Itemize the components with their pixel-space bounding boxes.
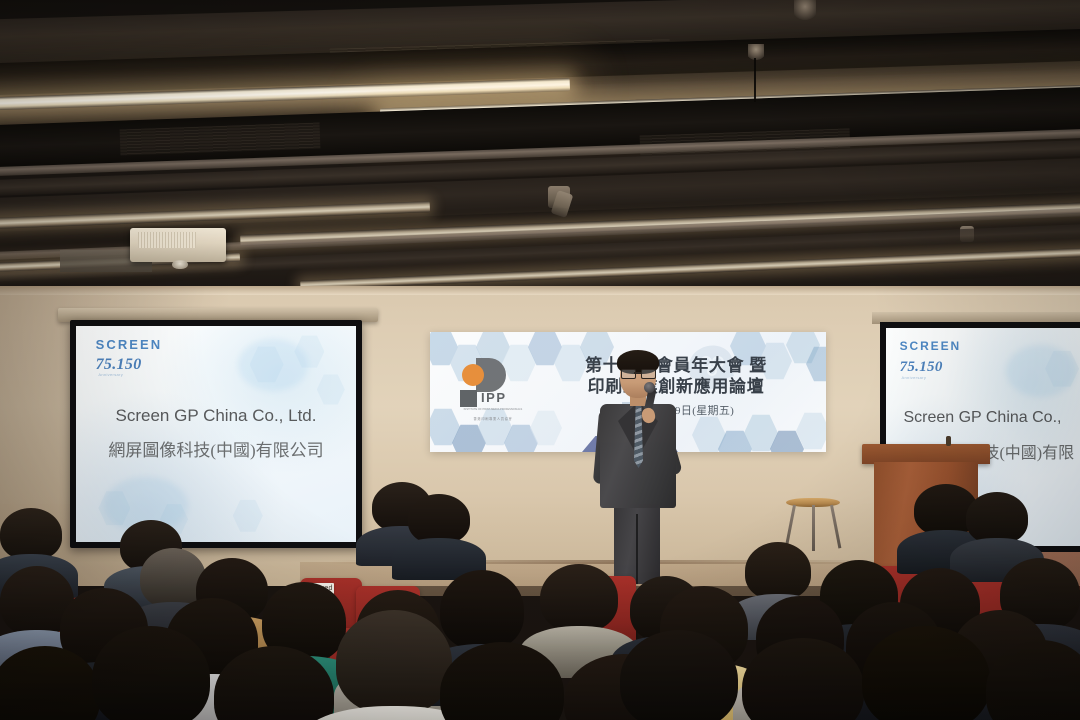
anniversary-mark: 75.150 [900, 359, 943, 376]
slide-title-english: Screen GP China Co., Ltd. [76, 406, 356, 426]
slide-hex-watermark [317, 374, 345, 406]
audience-member [742, 638, 864, 720]
screen-brand-logo: SCREEN [96, 337, 163, 352]
anniversary-sublabel: Anniversary [98, 372, 123, 377]
head [986, 640, 1080, 720]
lectern-top [862, 444, 990, 464]
conference-photo: SCREEN 75.150 Anniversary Screen GP Chin… [0, 0, 1080, 720]
audience: Reserved Reserved Reserved [0, 470, 1080, 720]
slide-title-chinese: 網屏圖像科技(中國)有限公司 [76, 436, 356, 461]
audience-member [214, 646, 334, 720]
screen-brand-logo: SCREEN [900, 339, 962, 353]
audience-member [336, 610, 452, 720]
sprinkler-head [748, 44, 764, 62]
audience-member [0, 646, 100, 720]
microphone-capsule [644, 382, 655, 393]
ipp-mark-dot [462, 364, 484, 386]
eyeglasses-icon [641, 369, 656, 379]
eyeglasses-bridge [634, 372, 641, 374]
head [92, 626, 210, 720]
head [336, 610, 452, 714]
head [0, 646, 100, 720]
hanger-rod [754, 58, 756, 102]
head [540, 564, 618, 632]
head [620, 630, 738, 720]
ipp-logo: IPP INSTITUTE OF PRINT-MEDIA PROFESSIONA… [454, 354, 528, 428]
projector-lens [172, 260, 188, 269]
projector-grille [138, 232, 196, 248]
head [0, 508, 62, 560]
audience-member [620, 630, 738, 720]
audience-member [986, 640, 1080, 720]
anniversary-sublabel: Anniversary [902, 375, 927, 380]
ceiling [0, 0, 1080, 292]
head [742, 638, 864, 720]
head [408, 494, 470, 544]
audience-member [92, 626, 210, 720]
slide-title-english: Screen GP China Co., [886, 409, 1080, 427]
head [214, 646, 334, 720]
sprinkler-head [794, 0, 816, 22]
audience-member [862, 626, 990, 720]
ipp-logo-sub-zh: 香港印刷專業人員協會 [458, 416, 528, 421]
ipp-mark-square [460, 390, 477, 407]
ipp-logo-text: IPP [481, 390, 507, 405]
lectern-microphone [946, 436, 951, 446]
head [440, 570, 524, 650]
audience-member [440, 642, 564, 720]
eyeglasses-icon [621, 369, 636, 379]
head [966, 492, 1028, 544]
head [745, 542, 811, 600]
head [440, 642, 564, 720]
head [862, 626, 990, 720]
audience-member [408, 494, 470, 568]
ipp-logo-sub-en: INSTITUTE OF PRINT-MEDIA PROFESSIONALS [458, 408, 528, 411]
